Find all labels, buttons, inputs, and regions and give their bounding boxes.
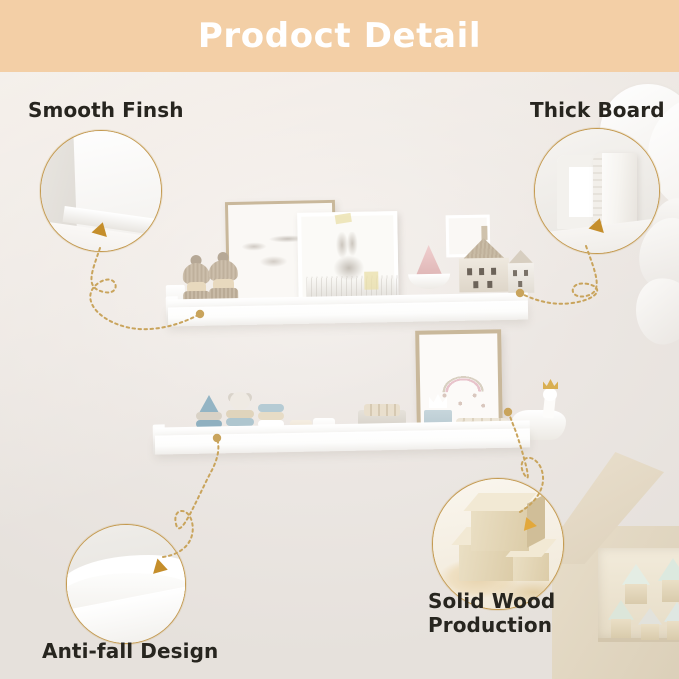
crown-icon bbox=[429, 394, 447, 408]
pointer-arrow-icon bbox=[524, 517, 538, 533]
house-window bbox=[491, 268, 496, 275]
toy-cone bbox=[199, 395, 219, 413]
stack-ring bbox=[258, 404, 284, 412]
mini-house-base bbox=[611, 619, 631, 638]
mini-house-roof bbox=[622, 564, 650, 585]
boat-hull bbox=[408, 274, 450, 290]
house-window bbox=[487, 281, 492, 288]
board-thickness-closeup-icon bbox=[535, 129, 659, 253]
boat-sail bbox=[416, 245, 443, 275]
page-title: Prodoct Detail bbox=[198, 19, 481, 53]
callout-label-anti-fall-design: Anti-fall Design bbox=[42, 640, 218, 664]
mini-house-roof bbox=[664, 602, 679, 622]
house-window bbox=[513, 270, 517, 276]
train-cargo bbox=[364, 404, 400, 416]
mini-house-icon bbox=[658, 558, 679, 602]
house-window bbox=[473, 281, 478, 288]
ceramic-house-small bbox=[505, 250, 538, 296]
stack-ring bbox=[258, 412, 284, 420]
mini-house-base bbox=[667, 621, 679, 640]
header-banner: Prodoct Detail bbox=[0, 0, 679, 72]
mini-house-roof bbox=[658, 558, 679, 581]
mini-house-icon bbox=[608, 600, 634, 638]
house-body bbox=[508, 263, 535, 293]
rainbow-sketch bbox=[433, 349, 492, 392]
house-window bbox=[518, 281, 522, 287]
swan-head bbox=[543, 388, 557, 401]
mini-house-icon bbox=[622, 564, 650, 604]
product-detail-image: Smooth Finsh Thick Board Anti-fall Desig… bbox=[0, 0, 679, 679]
house-window bbox=[479, 268, 484, 275]
callout-thick-board bbox=[534, 128, 660, 254]
pink-sail-boat bbox=[408, 245, 451, 292]
house-window bbox=[524, 270, 528, 276]
house-steeple bbox=[481, 226, 487, 240]
stack-ring bbox=[226, 410, 254, 418]
stack-ring bbox=[196, 412, 222, 420]
mini-house-base bbox=[662, 580, 679, 602]
mini-house-base bbox=[625, 584, 646, 604]
mini-house-base bbox=[641, 624, 659, 640]
washi-tape bbox=[335, 213, 352, 224]
mini-house-roof bbox=[638, 608, 662, 625]
mini-house-icon bbox=[664, 602, 679, 640]
callout-label-solid-wood-production: Solid Wood Production bbox=[428, 590, 555, 637]
callout-label-thick-board: Thick Board bbox=[530, 99, 665, 123]
shelf-lip-closeup-icon bbox=[67, 525, 185, 643]
house-window bbox=[467, 268, 472, 275]
callout-anti-fall-design bbox=[66, 524, 186, 644]
callout-label-smooth-finish: Smooth Finsh bbox=[28, 99, 184, 123]
wooden-dollhouse-shelf bbox=[548, 452, 679, 679]
washi-tape bbox=[364, 271, 378, 289]
owl-head bbox=[230, 392, 250, 410]
mini-house-icon bbox=[638, 608, 662, 640]
